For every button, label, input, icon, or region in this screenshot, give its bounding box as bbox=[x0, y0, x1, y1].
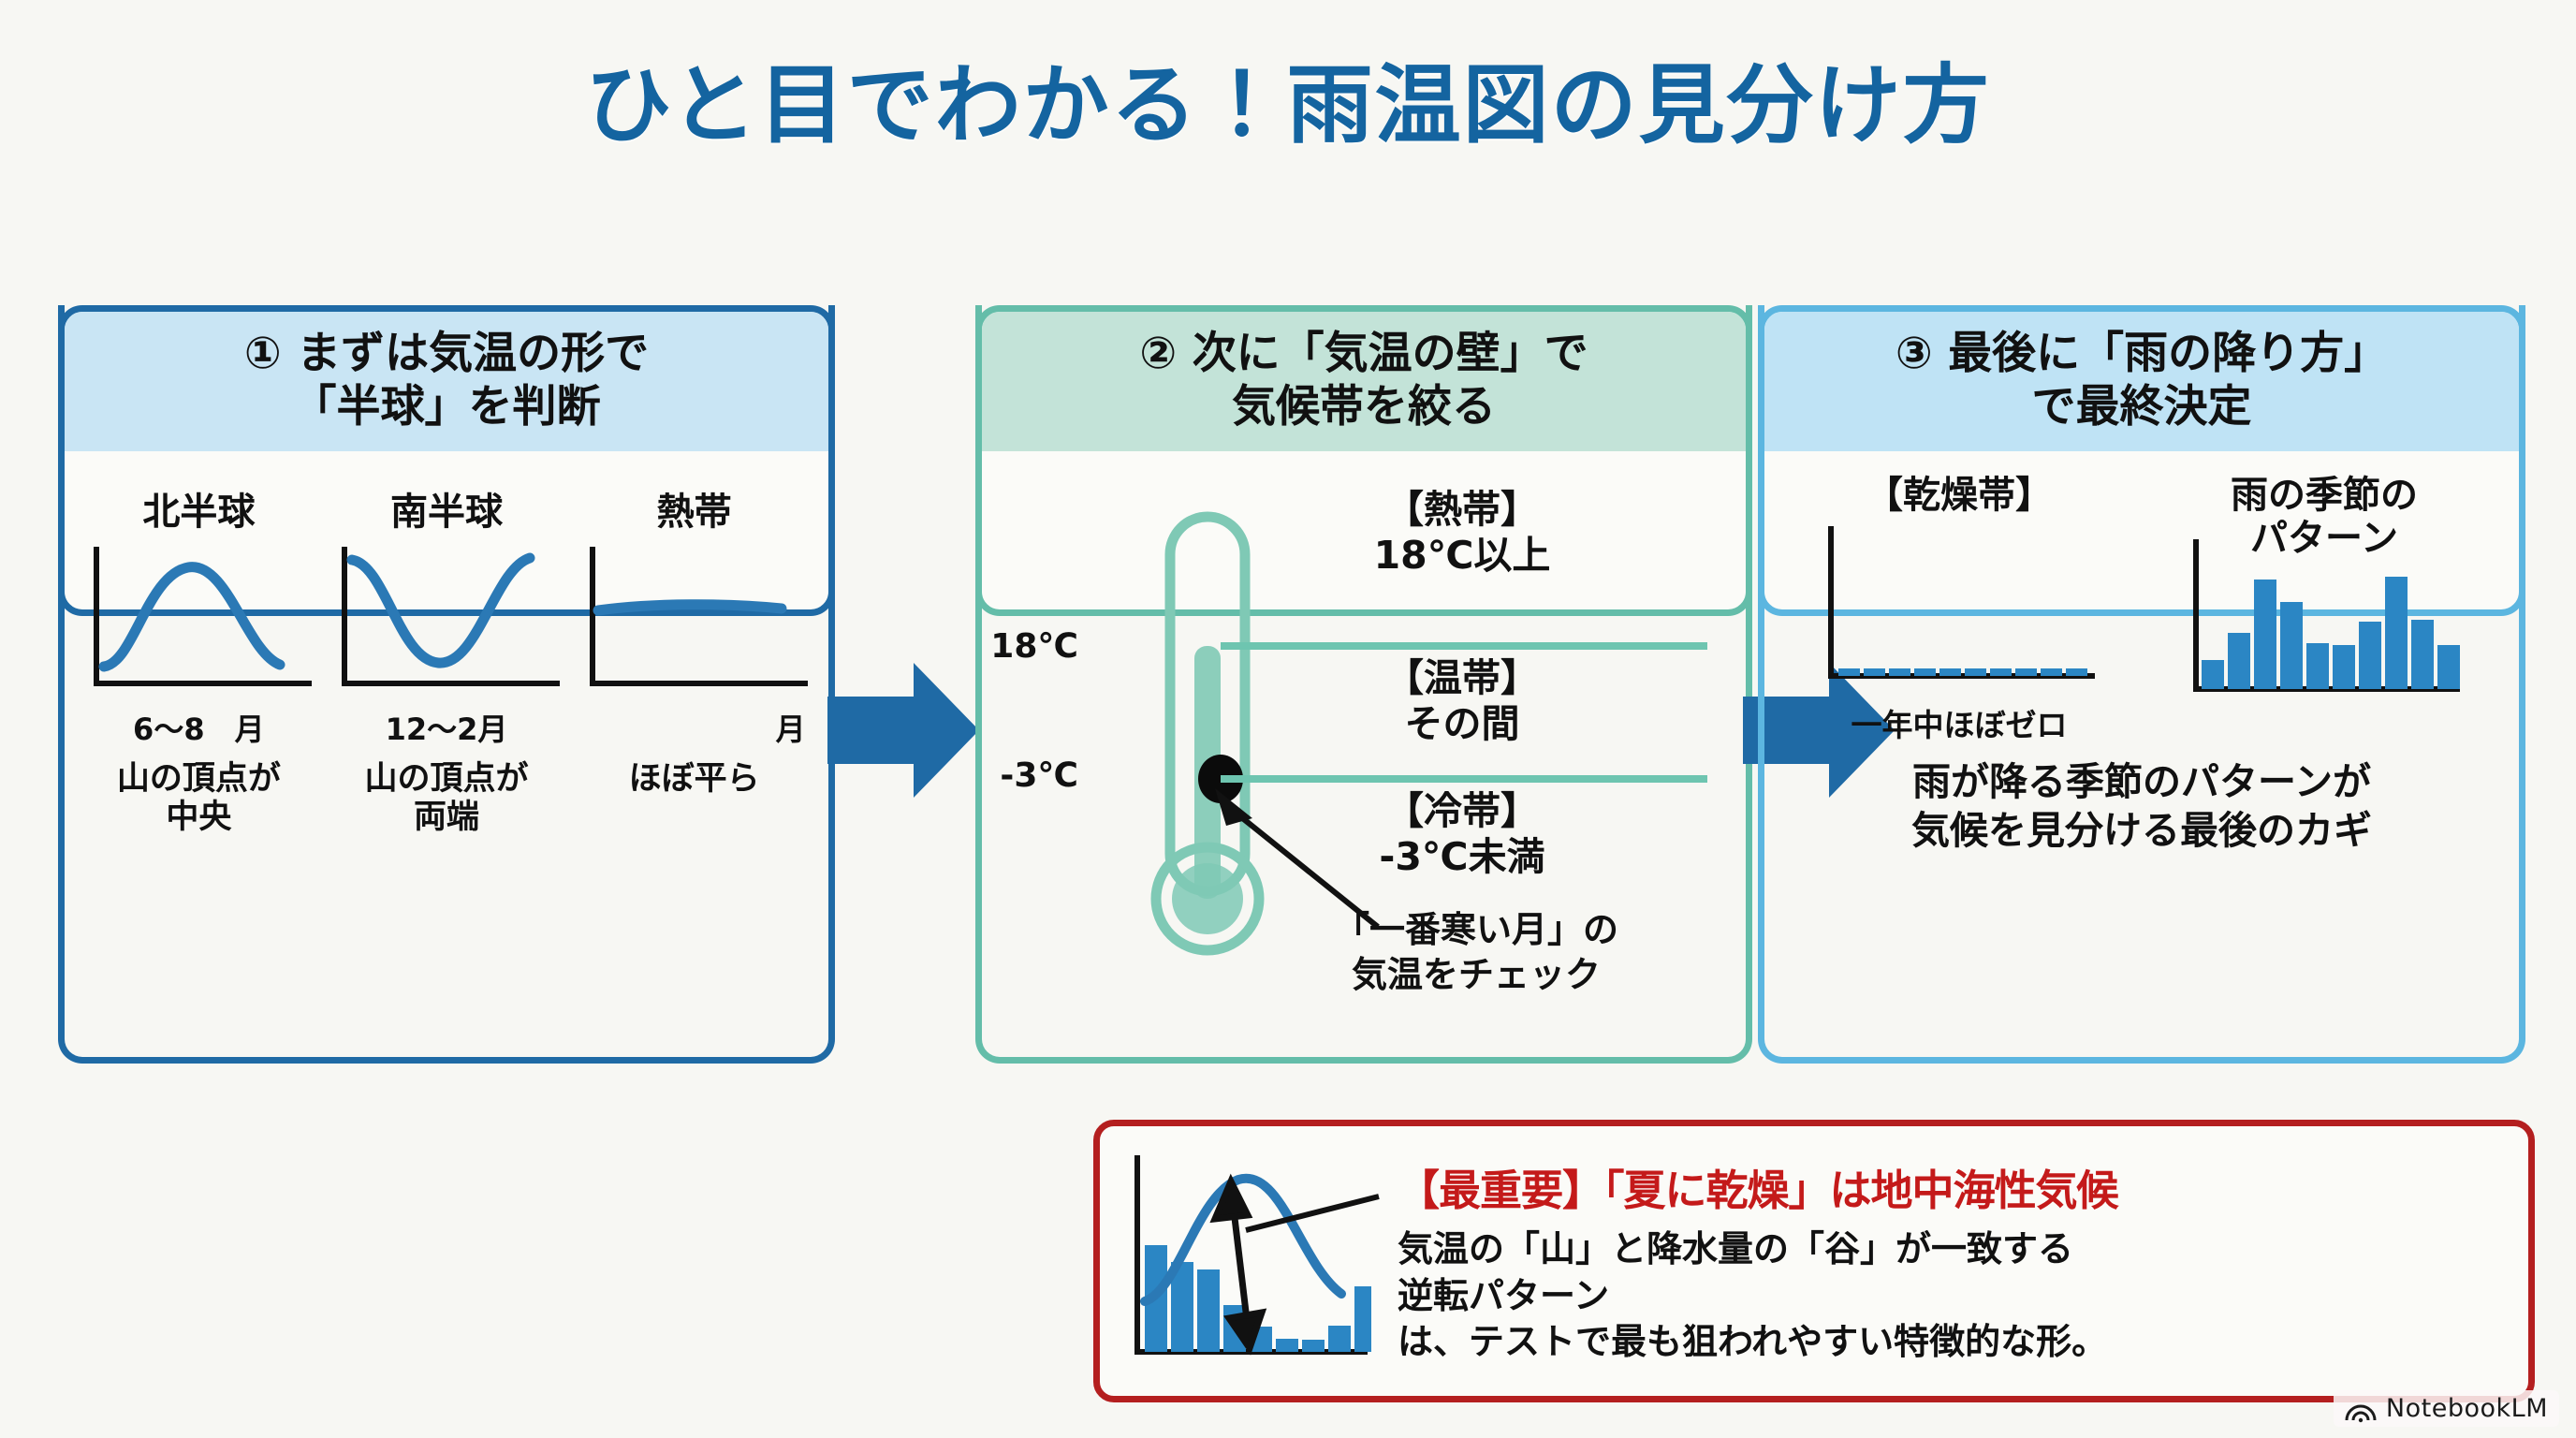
chart-arid-zone: 【乾燥帯】 bbox=[1814, 474, 2104, 745]
watermark-label: NotebookLM bbox=[2386, 1394, 2548, 1423]
line-chart-hump bbox=[81, 543, 315, 702]
highlight-body: 気温の「山」と降水量の「谷」が一致する 逆転パターン は、テストで最も狙われやす… bbox=[1398, 1226, 2506, 1365]
chart-title: 【乾燥帯】 bbox=[1814, 474, 2104, 517]
chart-caption: 山の頂点が 中央 bbox=[81, 760, 315, 838]
chart-seasonal-rain: 雨の季節の パターン bbox=[2179, 474, 2469, 745]
thermometer-diagram: 18℃ -3℃ 【熱帯】 18℃以上 【温帯】 その間 【冷帯】 -3℃未満 bbox=[975, 449, 1752, 974]
chart-title: 南半球 bbox=[329, 481, 563, 536]
band-label-tropical: 【熱帯】 18℃以上 bbox=[1256, 487, 1668, 579]
step-1-body: 北半球 6〜8 月 山の頂点が 中央 南半球 bbox=[58, 468, 835, 1058]
chart-plot-area bbox=[578, 543, 812, 702]
chart-x-label: 月 bbox=[578, 706, 812, 749]
chart-plot-area bbox=[1814, 522, 2104, 691]
band-label-subarctic: 【冷帯】 -3℃未満 bbox=[1256, 788, 1668, 880]
arrow-right-icon bbox=[824, 655, 983, 805]
thermometer-note: 「一番寒い月」の 気温をチェック bbox=[1256, 908, 1696, 997]
chart-title: 北半球 bbox=[81, 481, 315, 536]
band-divider-lower bbox=[1221, 774, 1707, 784]
chart-caption: 一年中ほぼゼロ bbox=[1814, 700, 2104, 745]
chart-title: 雨の季節の パターン bbox=[2179, 474, 2469, 560]
highlight-text-block: 【最重要】「夏に乾燥」は地中海性気候 気温の「山」と降水量の「谷」が一致する 逆… bbox=[1398, 1156, 2528, 1365]
chart-x-label: 6〜8 月 bbox=[81, 706, 315, 749]
bar-chart-seasonal bbox=[2179, 562, 2469, 702]
band-label-temperate: 【温帯】 その間 bbox=[1256, 655, 1668, 747]
step-3-footer: 雨が降る季節のパターンが 気候を見分ける最後のカギ bbox=[1758, 758, 2525, 855]
flow-arrow-1 bbox=[824, 655, 983, 805]
line-chart-valley bbox=[329, 543, 563, 702]
step-1-chart-row: 北半球 6〜8 月 山の頂点が 中央 南半球 bbox=[58, 468, 835, 838]
chart-title: 熱帯 bbox=[578, 481, 812, 536]
band-divider-upper bbox=[1221, 641, 1707, 651]
highlight-box: 【最重要】「夏に乾燥」は地中海性気候 気温の「山」と降水量の「谷」が一致する 逆… bbox=[1093, 1120, 2535, 1402]
chart-tropical: 熱帯 月 ほぼ平ら bbox=[578, 481, 812, 799]
step-2-body: 18℃ -3℃ 【熱帯】 18℃以上 【温帯】 その間 【冷帯】 -3℃未満 bbox=[975, 449, 1752, 1067]
step-3-chart-row: 【乾燥帯】 bbox=[1758, 464, 2525, 745]
infographic-canvas: ひと目でわかる！雨温図の見分け方 ① まずは気温の形で 「半球」を判断 北半球 … bbox=[0, 0, 2576, 1438]
bar-chart-arid bbox=[1814, 522, 2104, 691]
gap-indicator-arrow bbox=[1215, 1181, 1262, 1348]
highlight-heading: 【最重要】「夏に乾燥」は地中海性気候 bbox=[1398, 1156, 2506, 1217]
chart-northern-hemisphere: 北半球 6〜8 月 山の頂点が 中央 bbox=[81, 481, 315, 838]
chart-plot-area bbox=[329, 543, 563, 702]
line-chart-flat bbox=[578, 543, 812, 702]
chart-plot-area bbox=[2179, 562, 2469, 702]
chart-mediterranean bbox=[1100, 1144, 1398, 1378]
mediterranean-combo-chart bbox=[1117, 1144, 1379, 1378]
chart-x-label: 12〜2月 bbox=[329, 706, 563, 749]
notebooklm-watermark: NotebookLM bbox=[2334, 1390, 2559, 1427]
chart-plot-area bbox=[81, 543, 315, 702]
thermometer-tick-18c: 18℃ bbox=[975, 627, 1078, 666]
page-title: ひと目でわかる！雨温図の見分け方 bbox=[0, 36, 2576, 160]
chart-caption: 山の頂点が 両端 bbox=[329, 760, 563, 838]
chart-southern-hemisphere: 南半球 12〜2月 山の頂点が 両端 bbox=[329, 481, 563, 838]
chart-caption: ほぼ平ら bbox=[578, 760, 812, 799]
step-3-body: 【乾燥帯】 bbox=[1758, 464, 2525, 1064]
thermometer-tick-minus3c: -3℃ bbox=[975, 756, 1078, 795]
notebooklm-icon bbox=[2345, 1396, 2377, 1422]
